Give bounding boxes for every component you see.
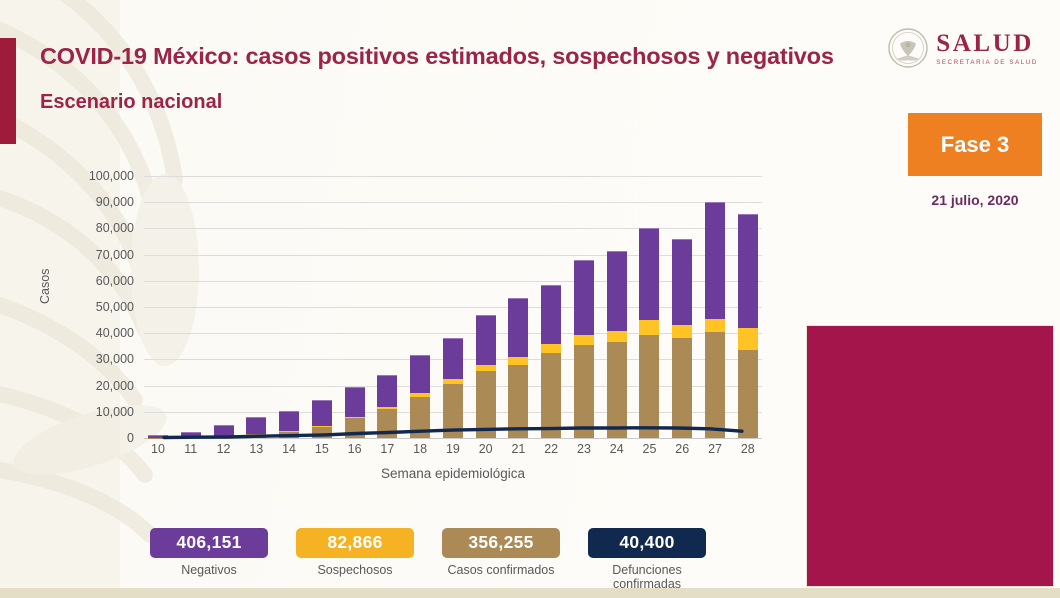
x-axis-tick: 15: [312, 442, 332, 456]
x-axis-tick: 18: [410, 442, 430, 456]
video-background: [807, 326, 1053, 586]
x-axis-tick: 23: [574, 442, 594, 456]
x-axis-tick: 24: [607, 442, 627, 456]
left-brand-accent-bar: [0, 38, 16, 144]
x-axis-tick: 20: [476, 442, 496, 456]
x-axis-tick: 19: [443, 442, 463, 456]
y-axis-tick: 60,000: [96, 274, 134, 288]
stat-value-badge: 40,400: [588, 528, 706, 558]
stat-item: 356,255Casos confirmados: [442, 528, 560, 592]
x-axis-tick: 22: [541, 442, 561, 456]
x-axis-tick: 16: [345, 442, 365, 456]
stat-value-badge: 82,866: [296, 528, 414, 558]
x-axis-tick: 12: [214, 442, 234, 456]
stacked-bar-chart: Casos 010,00020,00030,00040,00050,00060,…: [44, 176, 774, 496]
x-axis-tick: 13: [246, 442, 266, 456]
mexico-coat-of-arms-icon: [888, 28, 928, 68]
x-axis-tick-labels: 10111213141516171819202122232425262728: [144, 442, 762, 456]
x-axis-title: Semana epidemiológica: [144, 466, 762, 481]
stat-item: 406,151Negativos: [150, 528, 268, 592]
y-axis-tick: 10,000: [96, 405, 134, 419]
x-axis-tick: 14: [279, 442, 299, 456]
y-axis-tick: 70,000: [96, 248, 134, 262]
phase-label: Fase 3: [941, 132, 1010, 158]
y-axis-tick: 0: [127, 431, 134, 445]
x-axis-tick: 21: [508, 442, 528, 456]
x-axis-tick: 26: [672, 442, 692, 456]
x-axis-tick: 28: [738, 442, 758, 456]
y-axis-tick: 50,000: [96, 300, 134, 314]
logo-subtitle: SECRETARÍA DE SALUD: [936, 59, 1038, 66]
salud-logo: SALUD SECRETARÍA DE SALUD: [888, 28, 1038, 68]
y-axis-tick: 40,000: [96, 326, 134, 340]
slide-root: COVID-19 México: casos positivos estimad…: [0, 0, 1060, 598]
x-axis-tick: 25: [639, 442, 659, 456]
legend-stats: 406,151Negativos82,866Sospechosos356,255…: [150, 528, 706, 592]
y-axis-tick: 20,000: [96, 379, 134, 393]
x-axis-tick: 10: [148, 442, 168, 456]
stat-value-badge: 356,255: [442, 528, 560, 558]
sign-language-interpreter-video[interactable]: [806, 325, 1054, 587]
stat-item: 82,866Sospechosos: [296, 528, 414, 592]
y-axis-tick: 30,000: [96, 352, 134, 366]
x-axis-tick: 11: [181, 442, 201, 456]
phase-badge: Fase 3: [908, 113, 1042, 176]
stat-label: Negativos: [150, 563, 268, 577]
page-title: COVID-19 México: casos positivos estimad…: [40, 42, 840, 71]
logo-wordmark: SALUD: [936, 31, 1038, 56]
title-block: COVID-19 México: casos positivos estimad…: [40, 42, 840, 114]
y-axis-title: Casos: [38, 269, 52, 304]
x-axis-tick: 17: [377, 442, 397, 456]
deaths-overlay-line: [144, 176, 762, 438]
phase-date: 21 julio, 2020: [908, 192, 1042, 208]
stat-label: Sospechosos: [296, 563, 414, 577]
page-subtitle: Escenario nacional: [40, 91, 840, 114]
bottom-strip: [0, 588, 1060, 598]
y-axis-tick: 80,000: [96, 221, 134, 235]
y-axis-tick: 100,000: [89, 169, 134, 183]
y-axis-tick-labels: 010,00020,00030,00040,00050,00060,00070,…: [66, 176, 134, 438]
stat-label: Casos confirmados: [442, 563, 560, 577]
x-axis-tick: 27: [705, 442, 725, 456]
y-axis-tick: 90,000: [96, 195, 134, 209]
plot-area: [144, 176, 762, 438]
stat-item: 40,400Defunciones confirmadas: [588, 528, 706, 592]
stat-value-badge: 406,151: [150, 528, 268, 558]
